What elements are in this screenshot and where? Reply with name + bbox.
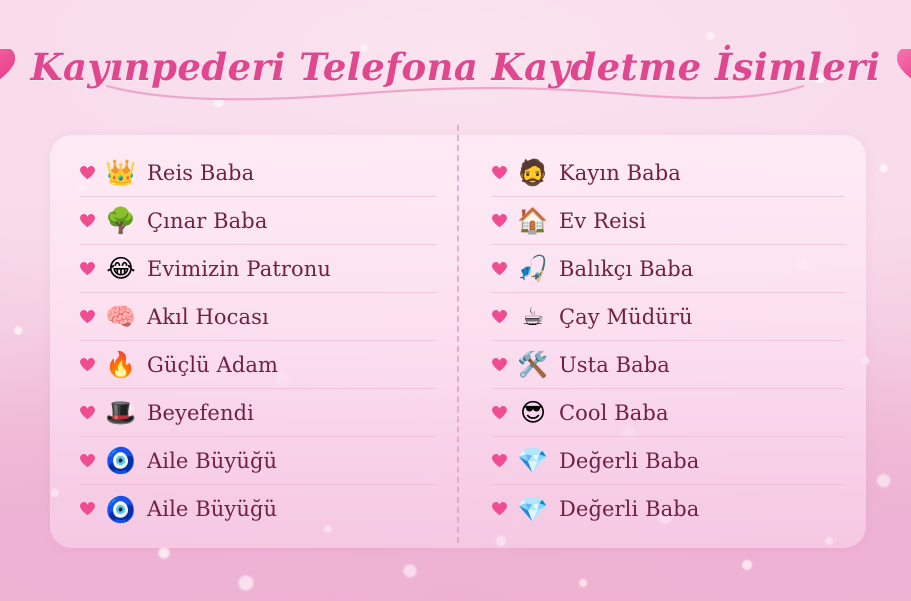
page-header: Kayınpederi Telefona Kaydetme İsimleri — [0, 30, 911, 104]
list-item[interactable]: 💎 Değerli Baba — [492, 437, 844, 485]
list-item-label: Güçlü Adam — [147, 353, 278, 377]
list-item[interactable]: 👑 Reis Baba — [80, 149, 436, 197]
list-item-label: Reis Baba — [147, 161, 254, 185]
heart-bullet-icon — [80, 214, 95, 228]
list-item-label: Aile Büyüğü — [147, 449, 277, 473]
list-item-label: Değerli Baba — [559, 497, 699, 521]
heart-bullet-icon — [80, 310, 95, 324]
list-item[interactable]: ☕ Çay Müdürü — [492, 293, 844, 341]
heart-icon-left — [0, 49, 15, 85]
gem-icon: 💎 — [517, 497, 549, 522]
crown-icon: 👑 — [105, 160, 137, 185]
heart-bullet-icon — [80, 406, 95, 420]
list-item[interactable]: 🎩 Beyefendi — [80, 389, 436, 437]
list-item-label: Ev Reisi — [559, 209, 646, 233]
list-item-label: Çınar Baba — [147, 209, 267, 233]
list-item-label: Cool Baba — [559, 401, 669, 425]
list-item-label: Aile Büyüğü — [147, 497, 277, 521]
joy-face-icon: 😂 — [105, 256, 137, 281]
nazar-amulet-icon: 🧿 — [105, 448, 137, 473]
right-column: 🧔 Kayın Baba 🏠 Ev Reisi 🎣 Balıkçı Baba ☕… — [458, 149, 866, 536]
heart-bullet-icon — [492, 358, 507, 372]
heart-bullet-icon — [492, 406, 507, 420]
heart-icon-right — [897, 49, 911, 85]
heart-bullet-icon — [492, 454, 507, 468]
list-item-label: Kayın Baba — [559, 161, 681, 185]
list-item[interactable]: 🛠️ Usta Baba — [492, 341, 844, 389]
heart-bullet-icon — [80, 262, 95, 276]
top-hat-icon: 🎩 — [105, 400, 137, 425]
list-item[interactable]: 🏠 Ev Reisi — [492, 197, 844, 245]
list-item[interactable]: 🌳 Çınar Baba — [80, 197, 436, 245]
heart-bullet-icon — [492, 166, 507, 180]
gem-icon: 💎 — [517, 448, 549, 473]
list-item[interactable]: 🎣 Balıkçı Baba — [492, 245, 844, 293]
list-item[interactable]: 🧿 Aile Büyüğü — [80, 437, 436, 485]
list-item-label: Beyefendi — [147, 401, 254, 425]
list-item-label: Usta Baba — [559, 353, 670, 377]
fishing-pole-icon: 🎣 — [517, 256, 549, 281]
list-item[interactable]: 🧔 Kayın Baba — [492, 149, 844, 197]
hot-beverage-icon: ☕ — [517, 304, 549, 329]
heart-bullet-icon — [492, 214, 507, 228]
list-item[interactable]: 💎 Değerli Baba — [492, 485, 844, 533]
list-item-label: Balıkçı Baba — [559, 257, 693, 281]
fire-icon: 🔥 — [105, 352, 137, 377]
list-item[interactable]: 🧠 Akıl Hocası — [80, 293, 436, 341]
list-item-label: Değerli Baba — [559, 449, 699, 473]
list-item-label: Çay Müdürü — [559, 305, 693, 329]
nazar-amulet-icon: 🧿 — [105, 497, 137, 522]
list-item[interactable]: 😎 Cool Baba — [492, 389, 844, 437]
list-item-label: Evimizin Patronu — [147, 257, 331, 281]
bearded-man-icon: 🧔 — [517, 160, 549, 185]
heart-bullet-icon — [80, 502, 95, 516]
heart-bullet-icon — [492, 502, 507, 516]
list-item-label: Akıl Hocası — [147, 305, 269, 329]
heart-bullet-icon — [492, 262, 507, 276]
brain-icon: 🧠 — [105, 304, 137, 329]
left-column: 👑 Reis Baba 🌳 Çınar Baba 😂 Evimizin Patr… — [50, 149, 458, 536]
heart-bullet-icon — [80, 358, 95, 372]
page-title: Kayınpederi Telefona Kaydetme İsimleri — [31, 45, 881, 89]
hammer-wrench-icon: 🛠️ — [517, 352, 549, 377]
heart-bullet-icon — [80, 454, 95, 468]
heart-bullet-icon — [80, 166, 95, 180]
heart-bullet-icon — [492, 310, 507, 324]
tree-icon: 🌳 — [105, 208, 137, 233]
list-item[interactable]: 🔥 Güçlü Adam — [80, 341, 436, 389]
list-item[interactable]: 🧿 Aile Büyüğü — [80, 485, 436, 533]
sunglasses-face-icon: 😎 — [517, 400, 549, 425]
list-item[interactable]: 😂 Evimizin Patronu — [80, 245, 436, 293]
house-icon: 🏠 — [517, 208, 549, 233]
column-divider — [457, 125, 459, 543]
